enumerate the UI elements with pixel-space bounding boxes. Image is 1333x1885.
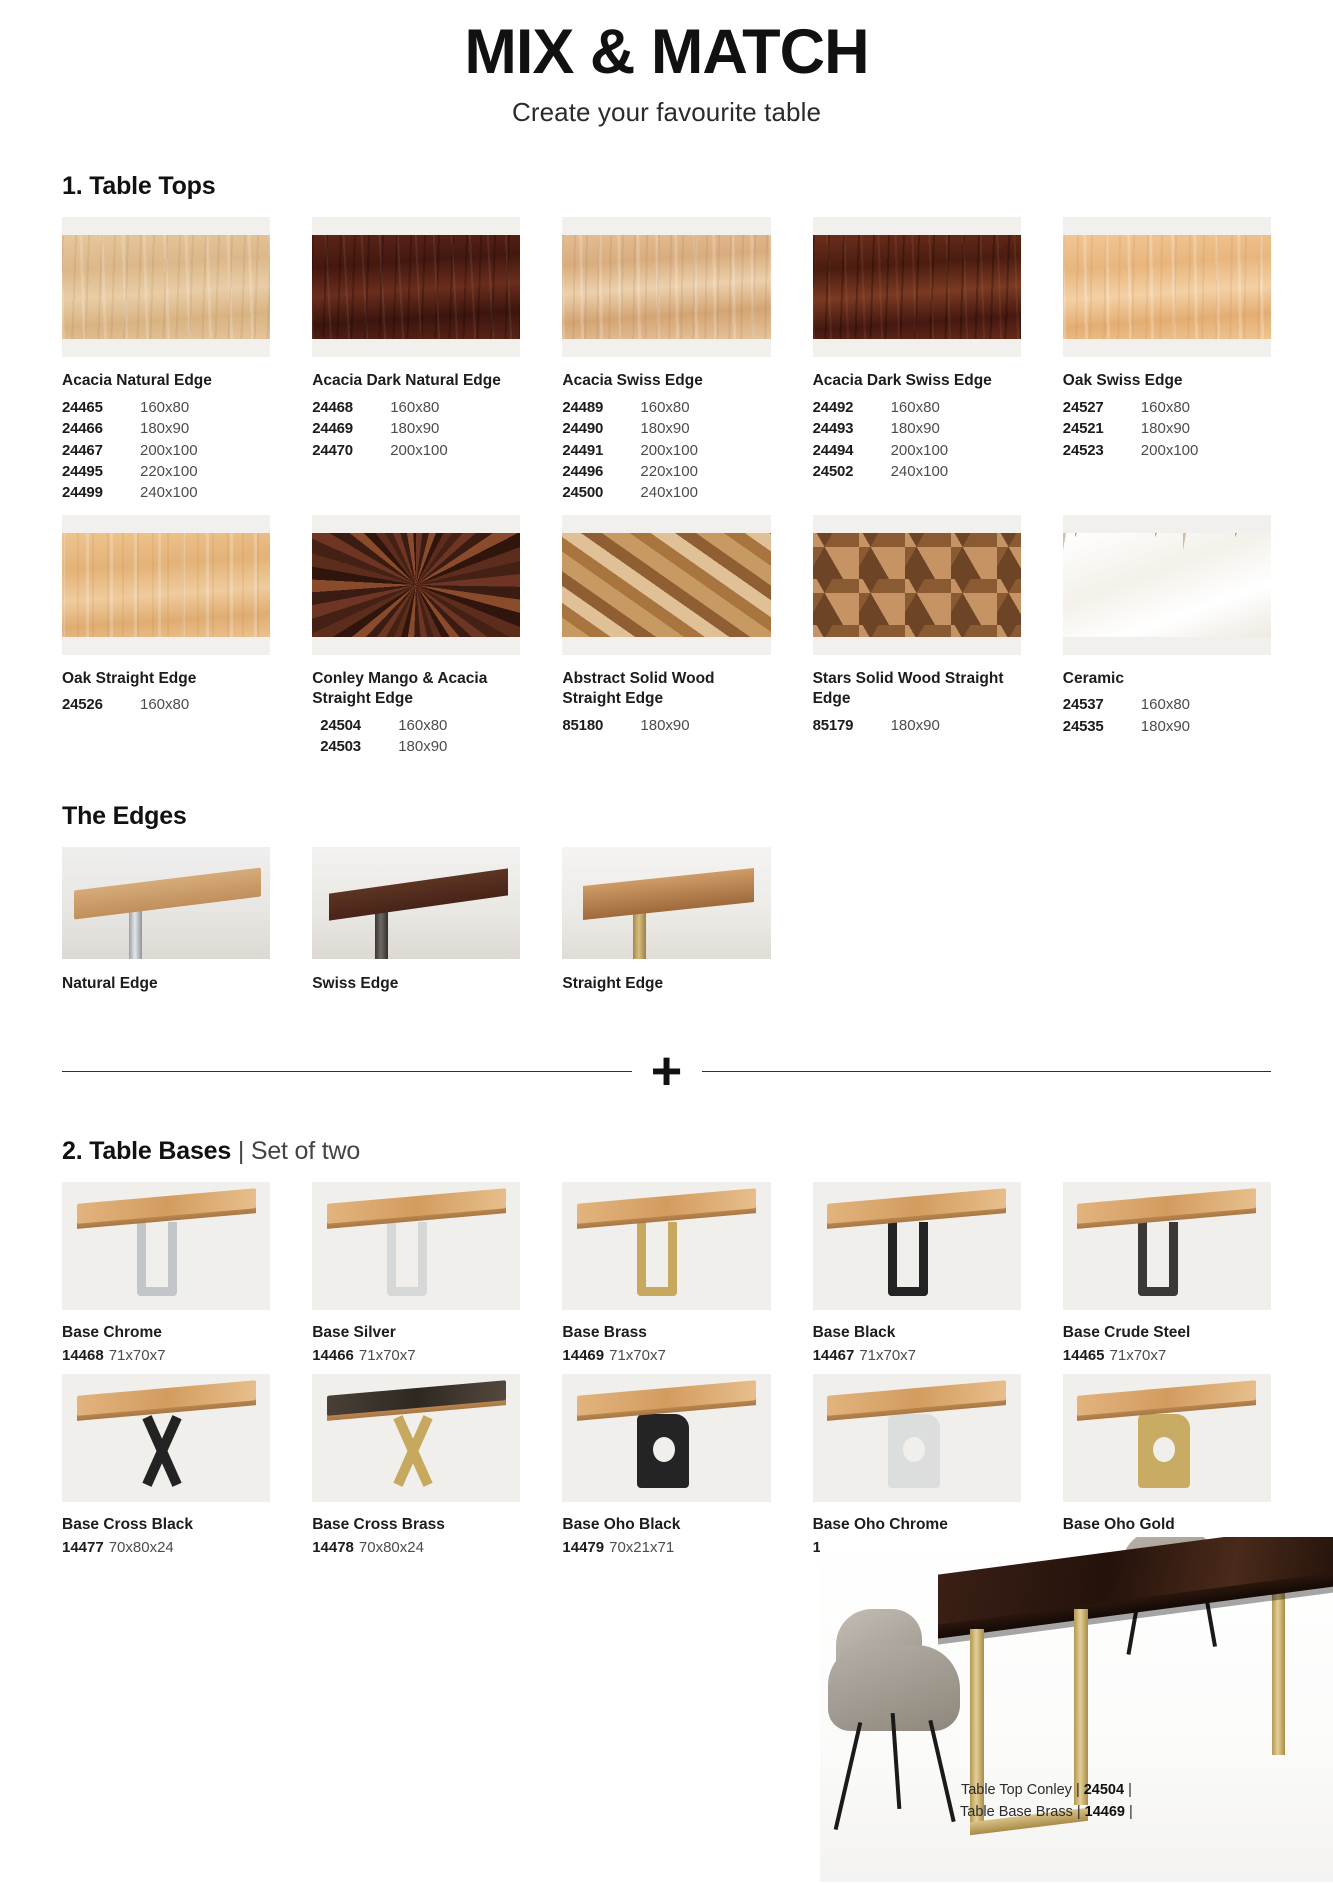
lifestyle-caption-line-1: Table Top Conley | 24504 |	[960, 1780, 1133, 1802]
sku-code: 85179	[813, 716, 877, 736]
sku-list: 85180180x90	[562, 716, 770, 736]
caption-top-tail: |	[1124, 1782, 1132, 1798]
sku-dimensions: 240x100	[891, 462, 949, 482]
edges-section: Natural EdgeSwiss EdgeStraight Edge Tabl…	[62, 847, 1271, 993]
sku-dimensions: 180x90	[640, 716, 689, 736]
table-base-name: Base Oho Gold	[1063, 1516, 1271, 1534]
base-leg-u-shape	[637, 1222, 677, 1296]
table-top-card[interactable]: Ceramic24537160x8024535180x90	[1063, 515, 1271, 759]
edge-thumbnail	[312, 847, 520, 959]
table-base-name: Base Brass	[562, 1324, 770, 1342]
base-sku-row: 1446571x70x7	[1063, 1345, 1271, 1366]
table-top-name: Conley Mango & Acacia Straight Edge	[312, 669, 520, 710]
base-sku-row: 1446871x70x7	[62, 1345, 270, 1366]
table-top-name: Abstract Solid Wood Straight Edge	[562, 669, 770, 710]
sku-dimensions: 160x80	[1141, 695, 1190, 715]
sku-dimensions: 180x90	[640, 419, 689, 439]
sku-code: 24495	[62, 462, 126, 482]
sku-row: 24489160x80	[562, 398, 770, 418]
table-base-card[interactable]: Base Brass1446971x70x7	[562, 1182, 770, 1366]
wood-texture-swatch	[1063, 533, 1271, 637]
base-sku-code: 14466	[312, 1347, 354, 1364]
sku-code: 24492	[813, 398, 877, 418]
table-base-name: Base Oho Black	[562, 1516, 770, 1534]
table-top-thumbnail	[562, 217, 770, 357]
table-base-card[interactable]: Base Oho Gold1448170x21x71	[1063, 1374, 1271, 1558]
sku-code: 24496	[562, 462, 626, 482]
table-top-thumbnail	[813, 217, 1021, 357]
table-base-card[interactable]: Base Black1446771x70x7	[813, 1182, 1021, 1366]
sku-row: 24500240x100	[562, 483, 770, 503]
edge-card[interactable]: Natural Edge	[62, 847, 270, 993]
sku-row: 24466180x90	[62, 419, 270, 439]
plus-divider: +	[62, 1049, 1271, 1093]
section-heading-table-tops: 1. Table Tops	[62, 172, 1271, 201]
base-leg-oho-shape	[888, 1414, 940, 1488]
base-leg-u-shape	[1138, 1222, 1178, 1296]
bases-heading-light: | Set of two	[238, 1137, 360, 1165]
base-dimensions: 71x70x7	[109, 1347, 166, 1364]
sku-row: 24503180x90	[320, 737, 520, 757]
sku-code: 24494	[813, 441, 877, 461]
table-base-name: Base Black	[813, 1324, 1021, 1342]
table-top-thumbnail	[1063, 217, 1271, 357]
table-top-name: Stars Solid Wood Straight Edge	[813, 669, 1021, 710]
edge-label: Natural Edge	[62, 975, 270, 993]
plus-icon: +	[632, 1055, 702, 1087]
wood-texture-swatch	[1063, 235, 1271, 339]
sku-row: 24527160x80	[1063, 398, 1271, 418]
sku-row: 24490180x90	[562, 419, 770, 439]
edge-card[interactable]: Straight Edge	[562, 847, 770, 993]
sku-dimensions: 200x100	[1141, 441, 1199, 461]
base-sku-code: 14479	[562, 1539, 604, 1556]
sku-dimensions: 180x90	[891, 419, 940, 439]
sku-code: 24465	[62, 398, 126, 418]
sku-list: 24492160x8024493180x9024494200x100245022…	[813, 398, 1021, 483]
sku-list: 24465160x8024466180x9024467200x100244952…	[62, 398, 270, 504]
table-base-thumbnail	[312, 1374, 520, 1502]
sku-dimensions: 240x100	[140, 483, 198, 503]
table-top-thumbnail	[62, 217, 270, 357]
table-top-card[interactable]: Acacia Dark Natural Edge24468160x8024469…	[312, 217, 520, 504]
sku-code: 24470	[312, 441, 376, 461]
edge-leg	[129, 906, 142, 960]
sku-code: 24537	[1063, 695, 1127, 715]
sku-list: 24527160x8024521180x9024523200x100	[1063, 398, 1271, 461]
table-base-card[interactable]: Base Crude Steel1446571x70x7	[1063, 1182, 1271, 1366]
table-base-card[interactable]: Base Silver1446671x70x7	[312, 1182, 520, 1366]
sku-row: 24491200x100	[562, 441, 770, 461]
table-leg-inner	[1074, 1609, 1088, 1805]
base-sku-row: 1446971x70x7	[562, 1345, 770, 1366]
table-base-name: Base Crude Steel	[1063, 1324, 1271, 1342]
base-dimensions: 70x21x71	[609, 1539, 674, 1556]
sku-dimensions: 240x100	[640, 483, 698, 503]
wood-texture-swatch	[312, 533, 520, 637]
base-sku-row: 1447770x80x24	[62, 1537, 270, 1558]
sku-row: 24526160x80	[62, 695, 270, 715]
base-sku-row: 1447870x80x24	[312, 1537, 520, 1558]
table-base-thumbnail	[562, 1182, 770, 1310]
caption-top-label: Table Top Conley |	[961, 1782, 1084, 1798]
table-base-card[interactable]: Base Cross Black1447770x80x24	[62, 1374, 270, 1558]
sku-code: 24490	[562, 419, 626, 439]
sku-row: 24465160x80	[62, 398, 270, 418]
table-leg-right	[1272, 1567, 1285, 1755]
base-dimensions: 71x70x7	[1110, 1347, 1167, 1364]
table-tops-grid-row-2: Oak Straight Edge24526160x80Conley Mango…	[62, 515, 1271, 759]
sku-row: 24467200x100	[62, 441, 270, 461]
edges-grid: Natural EdgeSwiss EdgeStraight Edge	[62, 847, 1271, 993]
page-subtitle: Create your favourite table	[62, 97, 1271, 128]
base-sku-code: 14465	[1063, 1347, 1105, 1364]
table-base-thumbnail	[1063, 1374, 1271, 1502]
table-base-thumbnail	[1063, 1182, 1271, 1310]
table-base-thumbnail	[813, 1182, 1021, 1310]
sku-row: 24468160x80	[312, 398, 520, 418]
base-dimensions: 70x80x24	[359, 1539, 424, 1556]
base-dimensions: 71x70x7	[359, 1347, 416, 1364]
sku-code: 24491	[562, 441, 626, 461]
sku-dimensions: 180x90	[891, 716, 940, 736]
table-base-name: Base Chrome	[62, 1324, 270, 1342]
sku-dimensions: 160x80	[140, 695, 189, 715]
sku-list: 85179180x90	[813, 716, 1021, 736]
table-top-card[interactable]: Oak Swiss Edge24527160x8024521180x902452…	[1063, 217, 1271, 504]
sku-dimensions: 180x90	[1141, 717, 1190, 737]
base-sku-code: 14468	[62, 1347, 104, 1364]
base-sku-code: 14467	[813, 1347, 855, 1364]
catalog-page: MIX & MATCH Create your favourite table …	[0, 0, 1333, 1885]
caption-top-sku: 24504	[1084, 1782, 1124, 1798]
sku-dimensions: 160x80	[1141, 398, 1190, 418]
sku-dimensions: 180x90	[390, 419, 439, 439]
base-sku-row: 1447970x21x71	[562, 1537, 770, 1558]
bases-heading-bold: 2. Table Bases	[62, 1137, 231, 1165]
base-sku-code: 14477	[62, 1539, 104, 1556]
sku-row: 24502240x100	[813, 462, 1021, 482]
sku-row: 24537160x80	[1063, 695, 1271, 715]
table-top-thumbnail	[1063, 515, 1271, 655]
sku-code: 24503	[320, 737, 384, 757]
table-top-name: Acacia Swiss Edge	[562, 371, 770, 391]
base-leg-u-shape	[888, 1222, 928, 1296]
page-title: MIX & MATCH	[62, 18, 1271, 87]
sku-row: 24535180x90	[1063, 717, 1271, 737]
table-top-thumbnail	[813, 515, 1021, 655]
wood-texture-swatch	[562, 235, 770, 339]
sku-dimensions: 180x90	[1141, 419, 1190, 439]
sku-dimensions: 160x80	[140, 398, 189, 418]
sku-row: 24504160x80	[320, 716, 520, 736]
edge-card[interactable]: Swiss Edge	[312, 847, 520, 993]
sku-code: 24489	[562, 398, 626, 418]
sku-row: 85179180x90	[813, 716, 1021, 736]
sku-dimensions: 180x90	[398, 737, 447, 757]
edge-leg	[375, 908, 388, 960]
lifestyle-caption-line-2: Table Base Brass | 14469 |	[960, 1802, 1133, 1824]
base-leg-u-shape	[387, 1222, 427, 1296]
sku-row: 24499240x100	[62, 483, 270, 503]
sku-code: 85180	[562, 716, 626, 736]
sku-code: 24535	[1063, 717, 1127, 737]
wood-texture-swatch	[813, 533, 1021, 637]
sku-dimensions: 220x100	[140, 462, 198, 482]
table-top-name: Ceramic	[1063, 669, 1271, 689]
sku-dimensions: 160x80	[398, 716, 447, 736]
edge-label: Swiss Edge	[312, 975, 520, 993]
table-base-name: Base Silver	[312, 1324, 520, 1342]
edge-profile-slab	[329, 868, 508, 920]
divider-line-left	[62, 1071, 632, 1072]
table-base-thumbnail	[62, 1374, 270, 1502]
sku-code: 24504	[320, 716, 384, 736]
table-top-card[interactable]: Acacia Natural Edge24465160x8024466180x9…	[62, 217, 270, 504]
sku-dimensions: 200x100	[140, 441, 198, 461]
sku-code: 24468	[312, 398, 376, 418]
caption-base-sku: 14469	[1085, 1804, 1125, 1820]
sku-dimensions: 200x100	[891, 441, 949, 461]
table-top-card[interactable]: Oak Straight Edge24526160x80	[62, 515, 270, 759]
table-top-thumbnail	[562, 515, 770, 655]
sku-list: 24504160x8024503180x90	[312, 716, 520, 758]
sku-dimensions: 180x90	[140, 419, 189, 439]
edge-profile-slab	[74, 867, 261, 919]
sku-dimensions: 200x100	[390, 441, 448, 461]
table-top-name: Acacia Dark Swiss Edge	[813, 371, 1021, 391]
caption-base-label: Table Base Brass |	[960, 1804, 1085, 1820]
table-base-thumbnail	[62, 1182, 270, 1310]
sku-code: 24493	[813, 419, 877, 439]
table-top-card[interactable]: Acacia Dark Swiss Edge24492160x802449318…	[813, 217, 1021, 504]
sku-row: 24469180x90	[312, 419, 520, 439]
sku-row: 85180180x90	[562, 716, 770, 736]
sku-code: 24499	[62, 483, 126, 503]
lifestyle-photo: Table Top Conley | 24504 | Table Base Br…	[820, 1537, 1333, 1882]
sku-dimensions: 200x100	[640, 441, 698, 461]
caption-base-tail: |	[1125, 1804, 1133, 1820]
table-base-name: Base Cross Brass	[312, 1516, 520, 1534]
base-sku-row: 1446671x70x7	[312, 1345, 520, 1366]
table-base-thumbnail	[312, 1182, 520, 1310]
table-top-thumbnail	[62, 515, 270, 655]
table-base-card[interactable]: Base Oho Black1447970x21x71	[562, 1374, 770, 1558]
sku-row: 24492160x80	[813, 398, 1021, 418]
sku-list: 24537160x8024535180x90	[1063, 695, 1271, 737]
sku-row: 24523200x100	[1063, 441, 1271, 461]
base-dimensions: 70x80x24	[109, 1539, 174, 1556]
edge-thumbnail	[562, 847, 770, 959]
table-top-card[interactable]: Conley Mango & Acacia Straight Edge24504…	[312, 515, 520, 759]
page-header: MIX & MATCH Create your favourite table	[62, 0, 1271, 128]
wood-texture-swatch	[62, 533, 270, 637]
table-bases-grid-row-1: Base Chrome1446871x70x7Base Silver144667…	[62, 1182, 1271, 1374]
base-leg-cross-shape	[375, 1414, 451, 1488]
base-leg-cross-shape	[124, 1414, 200, 1488]
sku-row: 24496220x100	[562, 462, 770, 482]
sku-row: 24470200x100	[312, 441, 520, 461]
table-top-name: Acacia Dark Natural Edge	[312, 371, 520, 391]
sku-row: 24493180x90	[813, 419, 1021, 439]
table-base-card[interactable]: Base Chrome1446871x70x7	[62, 1182, 270, 1366]
table-top-card[interactable]: Acacia Swiss Edge24489160x8024490180x902…	[562, 217, 770, 504]
table-top-name: Acacia Natural Edge	[62, 371, 270, 391]
table-base-thumbnail	[813, 1374, 1021, 1502]
table-base-card[interactable]: Base Oho Chrome1448070x21x71	[813, 1374, 1021, 1558]
sku-code: 24523	[1063, 441, 1127, 461]
sku-list: 24489160x8024490180x9024491200x100244962…	[562, 398, 770, 504]
table-base-card[interactable]: Base Cross Brass1447870x80x24	[312, 1374, 520, 1558]
table-top-card[interactable]: Abstract Solid Wood Straight Edge8518018…	[562, 515, 770, 759]
base-dimensions: 71x70x7	[609, 1347, 666, 1364]
table-tops-grid-row-1: Acacia Natural Edge24465160x8024466180x9…	[62, 217, 1271, 504]
sku-dimensions: 160x80	[640, 398, 689, 418]
sku-code: 24500	[562, 483, 626, 503]
table-top-thumbnail	[312, 217, 520, 357]
base-leg-oho-shape	[1138, 1414, 1190, 1488]
sku-code: 24521	[1063, 419, 1127, 439]
edge-leg	[633, 910, 646, 959]
lifestyle-caption: Table Top Conley | 24504 | Table Base Br…	[960, 1780, 1133, 1824]
table-base-name: Base Cross Black	[62, 1516, 270, 1534]
sku-code: 24527	[1063, 398, 1127, 418]
table-top-card[interactable]: Stars Solid Wood Straight Edge85179180x9…	[813, 515, 1021, 759]
wood-texture-swatch	[813, 235, 1021, 339]
base-sku-row: 1446771x70x7	[813, 1345, 1021, 1366]
wood-texture-swatch	[62, 235, 270, 339]
table-top-thumbnail	[312, 515, 520, 655]
wood-texture-swatch	[312, 235, 520, 339]
section-heading-the-edges: The Edges	[62, 802, 1271, 831]
edge-thumbnail	[62, 847, 270, 959]
section-heading-table-bases: 2. Table Bases | Set of two	[62, 1137, 1271, 1166]
edge-label: Straight Edge	[562, 975, 770, 993]
sku-list: 24526160x80	[62, 695, 270, 715]
base-dimensions: 71x70x7	[859, 1347, 916, 1364]
sku-row: 24494200x100	[813, 441, 1021, 461]
sku-list: 24468160x8024469180x9024470200x100	[312, 398, 520, 461]
sku-dimensions: 160x80	[891, 398, 940, 418]
sku-code: 24502	[813, 462, 877, 482]
sku-code: 24469	[312, 419, 376, 439]
sku-code: 24467	[62, 441, 126, 461]
sku-dimensions: 160x80	[390, 398, 439, 418]
table-top-name: Oak Straight Edge	[62, 669, 270, 689]
wood-texture-swatch	[562, 533, 770, 637]
base-sku-code: 14478	[312, 1539, 354, 1556]
table-base-thumbnail	[562, 1374, 770, 1502]
table-top-name: Oak Swiss Edge	[1063, 371, 1271, 391]
table-base-name: Base Oho Chrome	[813, 1516, 1021, 1534]
sku-dimensions: 220x100	[640, 462, 698, 482]
sku-code: 24466	[62, 419, 126, 439]
sku-code: 24526	[62, 695, 126, 715]
sku-row: 24495220x100	[62, 462, 270, 482]
base-leg-u-shape	[137, 1222, 177, 1296]
base-sku-code: 14469	[562, 1347, 604, 1364]
base-leg-oho-shape	[637, 1414, 689, 1488]
edge-profile-slab	[583, 868, 754, 920]
divider-line-right	[702, 1071, 1272, 1072]
sku-row: 24521180x90	[1063, 419, 1271, 439]
